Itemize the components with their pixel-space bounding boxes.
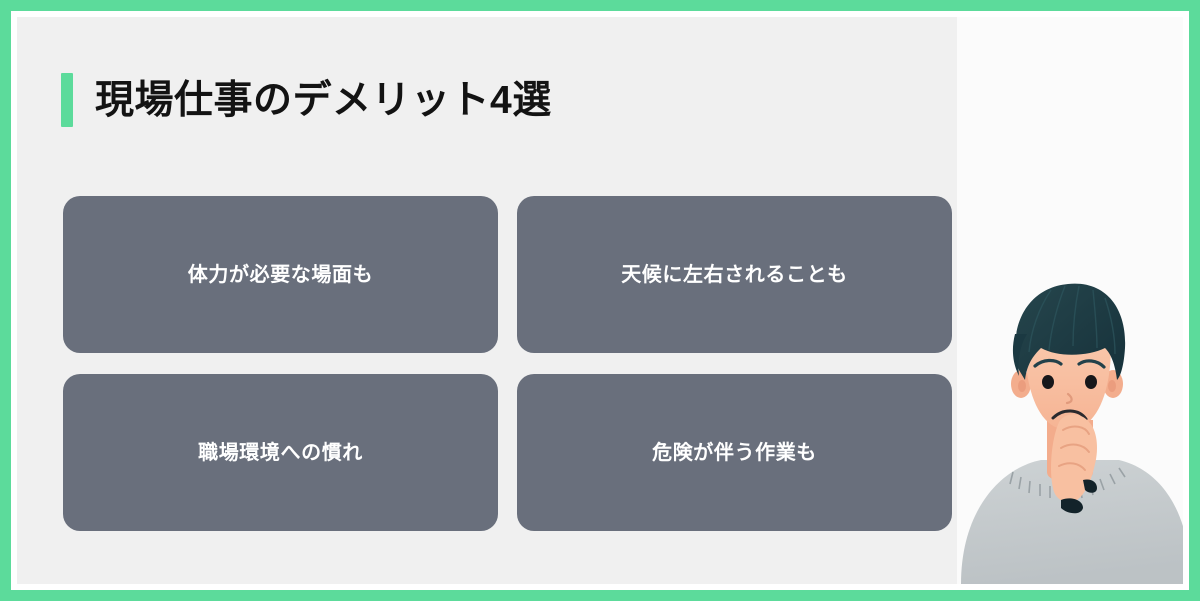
title-accent-bar — [61, 73, 73, 127]
card-label: 天候に左右されることも — [621, 261, 848, 289]
card-label: 職場環境への慣れ — [198, 439, 363, 467]
card-item[interactable]: 危険が伴う作業も — [517, 374, 952, 531]
page-title: 現場仕事のデメリット4選 — [61, 72, 552, 128]
card-item[interactable]: 体力が必要な場面も — [63, 196, 498, 353]
slide: 現場仕事のデメリット4選 体力が必要な場面も 天候に左右されることも 職場環境へ… — [0, 0, 1200, 601]
illustration-panel — [957, 17, 1183, 584]
title-text: 現場仕事のデメリット4選 — [95, 81, 552, 120]
thinking-man-illustration — [957, 272, 1183, 584]
right-eye — [1085, 375, 1097, 389]
card-label: 体力が必要な場面も — [188, 261, 373, 289]
slide-canvas: 現場仕事のデメリット4選 体力が必要な場面も 天候に左右されることも 職場環境へ… — [17, 17, 1183, 584]
left-ear-inner — [1018, 380, 1026, 392]
card-grid: 体力が必要な場面も 天候に左右されることも 職場環境への慣れ 危険が伴う作業も — [63, 196, 952, 531]
card-item[interactable]: 天候に左右されることも — [517, 196, 952, 353]
right-ear-inner — [1108, 380, 1116, 392]
card-label: 危険が伴う作業も — [652, 439, 817, 467]
card-item[interactable]: 職場環境への慣れ — [63, 374, 498, 531]
left-eye — [1042, 375, 1054, 389]
